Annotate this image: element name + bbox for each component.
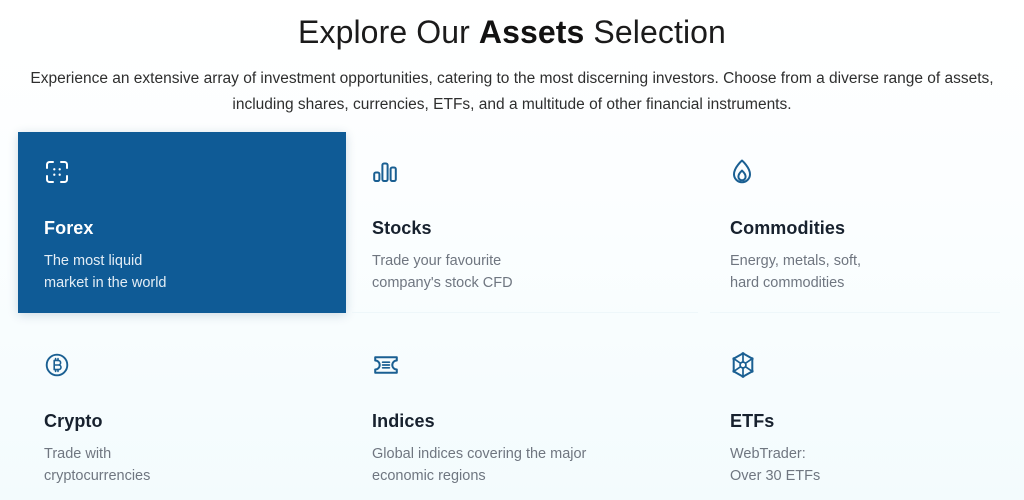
page-title-emphasis: Assets <box>479 14 585 50</box>
assets-selection-section: Explore Our Assets Selection Experience … <box>0 0 1024 500</box>
asset-card-title: Indices <box>372 409 678 433</box>
bitcoin-circle-icon <box>44 347 320 383</box>
asset-card-title: Crypto <box>44 409 320 433</box>
assets-card-grid: Forex The most liquid market in the worl… <box>18 132 1006 500</box>
scan-corners-icon <box>44 154 320 190</box>
flame-icon <box>730 154 980 190</box>
network-node-icon <box>730 347 980 383</box>
asset-card-title: Forex <box>44 216 320 240</box>
asset-card-description: Global indices covering the major econom… <box>372 443 632 487</box>
asset-card-etfs[interactable]: ETFs WebTrader: Over 30 ETFs <box>704 313 1006 500</box>
asset-card-title: Stocks <box>372 216 678 240</box>
asset-card-description: The most liquid market in the world <box>44 250 304 294</box>
asset-card-stocks[interactable]: Stocks Trade your favourite company's st… <box>346 132 704 313</box>
asset-card-commodities[interactable]: Commodities Energy, metals, soft, hard c… <box>704 132 1006 313</box>
asset-card-title: Commodities <box>730 216 980 240</box>
asset-card-indices[interactable]: Indices Global indices covering the majo… <box>346 313 704 500</box>
asset-card-crypto[interactable]: Crypto Trade with cryptocurrencies <box>18 313 346 500</box>
page-subtitle: Experience an extensive array of investm… <box>22 66 1002 118</box>
page-title: Explore Our Assets Selection <box>0 10 1024 54</box>
asset-card-description: Energy, metals, soft, hard commodities <box>730 250 980 294</box>
page-title-prefix: Explore Our <box>298 14 479 50</box>
asset-card-title: ETFs <box>730 409 980 433</box>
ticket-icon <box>372 347 678 383</box>
page-title-suffix: Selection <box>584 14 726 50</box>
asset-card-description: Trade your favourite company's stock CFD <box>372 250 632 294</box>
asset-card-description: WebTrader: Over 30 ETFs <box>730 443 980 487</box>
asset-card-forex[interactable]: Forex The most liquid market in the worl… <box>18 132 346 313</box>
section-header: Explore Our Assets Selection Experience … <box>0 0 1024 118</box>
asset-card-description: Trade with cryptocurrencies <box>44 443 304 487</box>
bar-chart-icon <box>372 154 678 190</box>
